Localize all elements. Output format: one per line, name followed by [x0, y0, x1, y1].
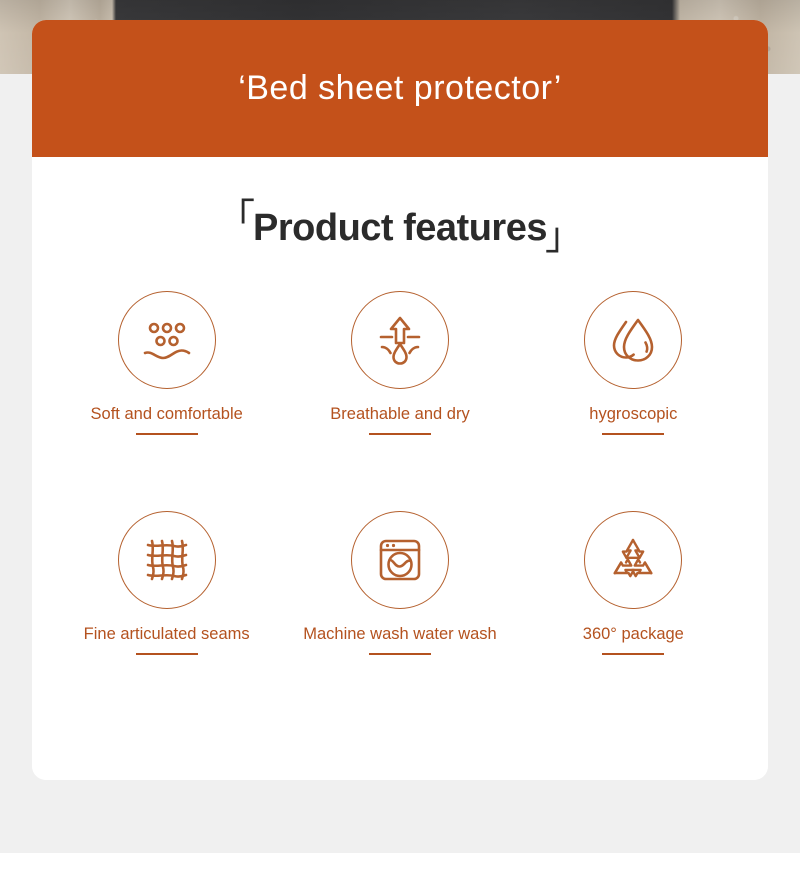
feature-label: Breathable and dry [330, 405, 469, 424]
recycle-icon [584, 511, 682, 609]
feature-item: Machine wash water wash [283, 511, 516, 731]
feature-item: Fine articulated seams [50, 511, 283, 731]
feature-underline [369, 653, 431, 655]
feature-underline [136, 653, 198, 655]
feature-label: Fine articulated seams [84, 625, 250, 644]
feature-label: Machine wash water wash [303, 625, 497, 644]
water-droplets-icon [584, 291, 682, 389]
feature-underline [369, 433, 431, 435]
product-feature-page: ‘Bed sheet protector’ 「 Product features… [0, 0, 800, 883]
card-banner: ‘Bed sheet protector’ [32, 20, 768, 157]
washing-machine-icon [351, 511, 449, 609]
feature-underline [602, 433, 664, 435]
section-heading: 「 Product features 」 [32, 157, 768, 247]
soft-dots-wave-icon [118, 291, 216, 389]
feature-item: hygroscopic [517, 291, 750, 511]
feature-item: Breathable and dry [283, 291, 516, 511]
product-card: ‘Bed sheet protector’ 「 Product features… [32, 20, 768, 780]
feature-grid: Soft and comfortable [32, 291, 768, 731]
card-body: 「 Product features 」 [32, 157, 768, 780]
feature-label: Soft and comfortable [91, 405, 243, 424]
feature-underline [602, 653, 664, 655]
feature-item: Soft and comfortable [50, 291, 283, 511]
corner-bracket-open-icon: 「 [217, 200, 255, 238]
feature-item: 360° package [517, 511, 750, 731]
banner-title: ‘Bed sheet protector’ [238, 69, 562, 108]
page-title: Product features [253, 209, 547, 247]
feature-label: 360° package [583, 625, 684, 644]
feature-underline [136, 433, 198, 435]
feature-label: hygroscopic [589, 405, 677, 424]
corner-bracket-close-icon: 」 [545, 218, 583, 256]
woven-mesh-icon [118, 511, 216, 609]
breathable-arrow-droplet-icon [351, 291, 449, 389]
